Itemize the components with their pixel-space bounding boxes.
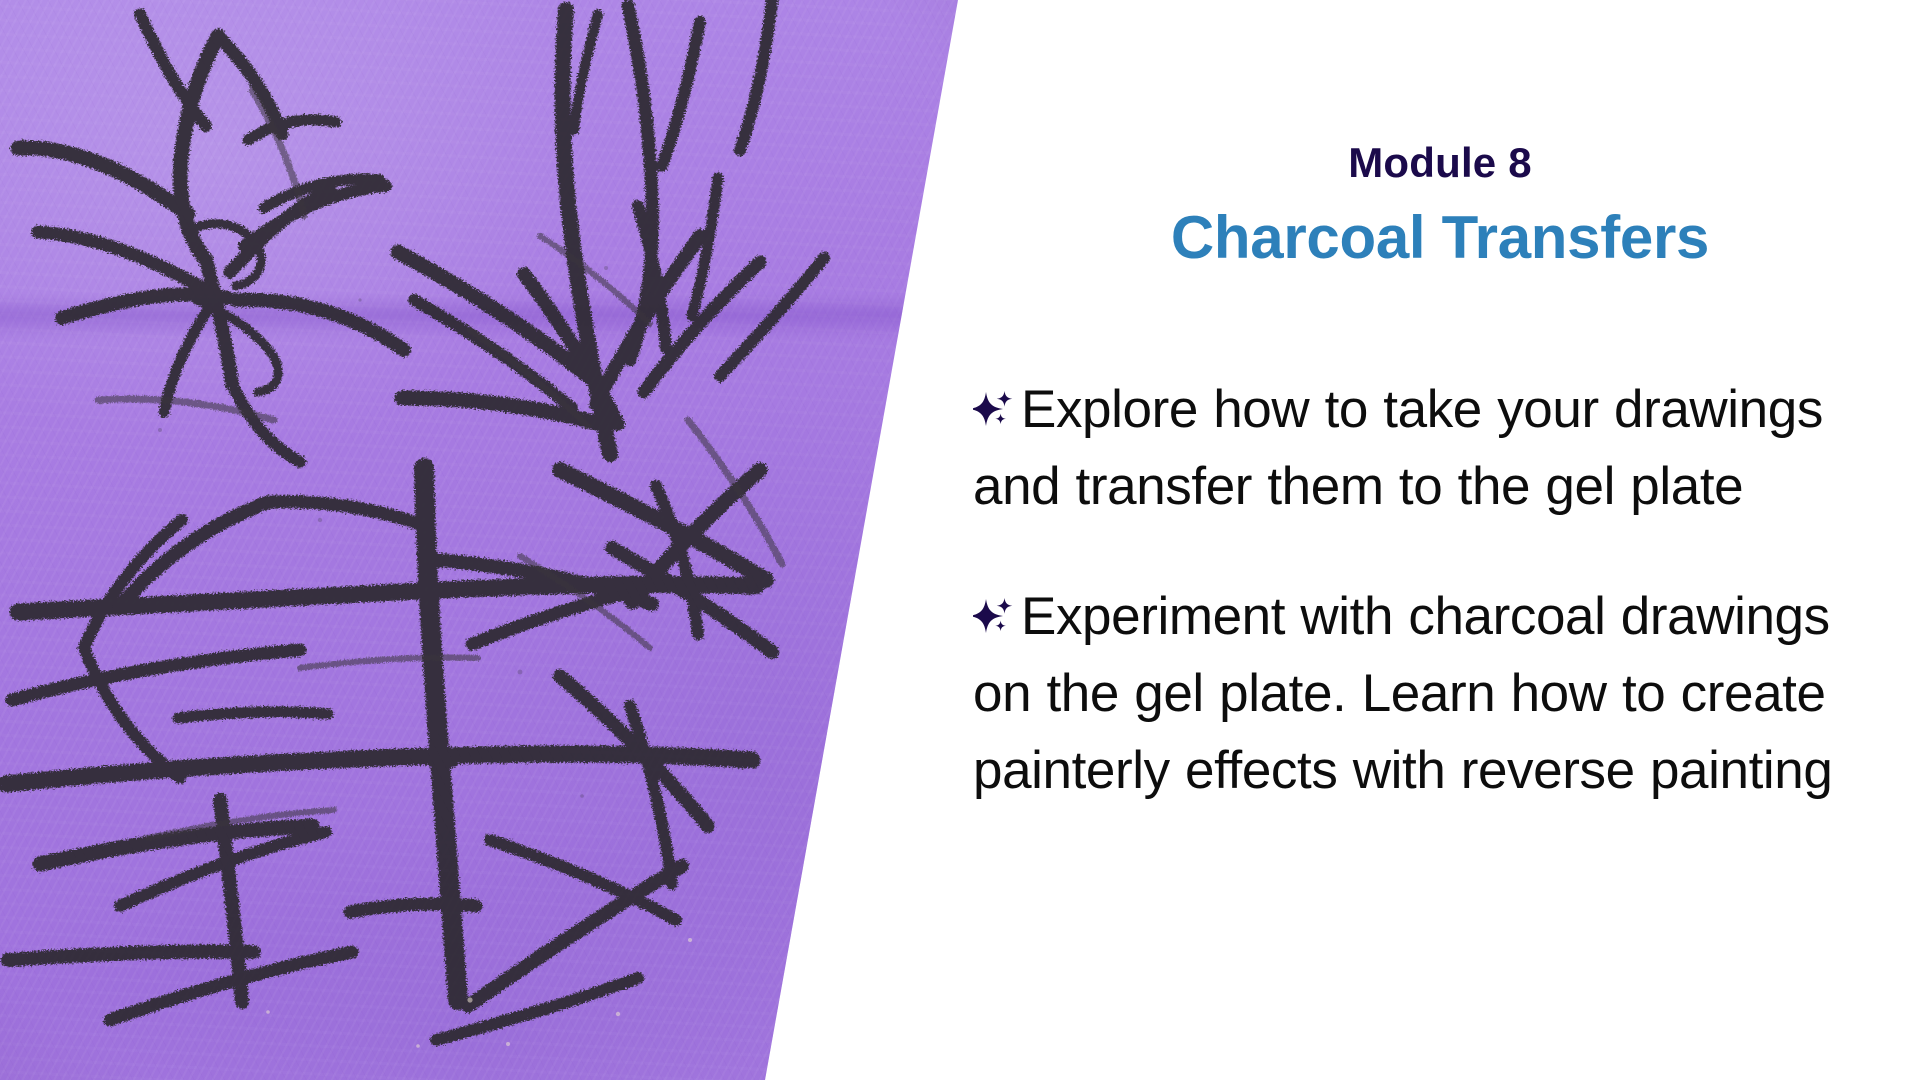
sparkle-icon	[973, 595, 1017, 639]
list-item-text: Experiment with charcoal drawings on the…	[973, 587, 1832, 800]
slide-canvas: Module 8 Charcoal Transfers Explore how …	[0, 0, 1920, 1080]
list-item: Experiment with charcoal drawings on the…	[973, 578, 1903, 809]
text-content-panel: Module 8 Charcoal Transfers Explore how …	[960, 0, 1920, 1080]
module-eyebrow-label: Module 8	[960, 140, 1920, 186]
sparkle-icon	[973, 388, 1017, 432]
page-title: Charcoal Transfers	[960, 205, 1920, 271]
bullet-list: Explore how to take your drawings and tr…	[973, 318, 1903, 862]
photo-vignette	[0, 0, 980, 1080]
list-item-text: Explore how to take your drawings and tr…	[973, 380, 1823, 516]
list-item: Explore how to take your drawings and tr…	[973, 371, 1903, 525]
photo-panel	[0, 0, 980, 1080]
